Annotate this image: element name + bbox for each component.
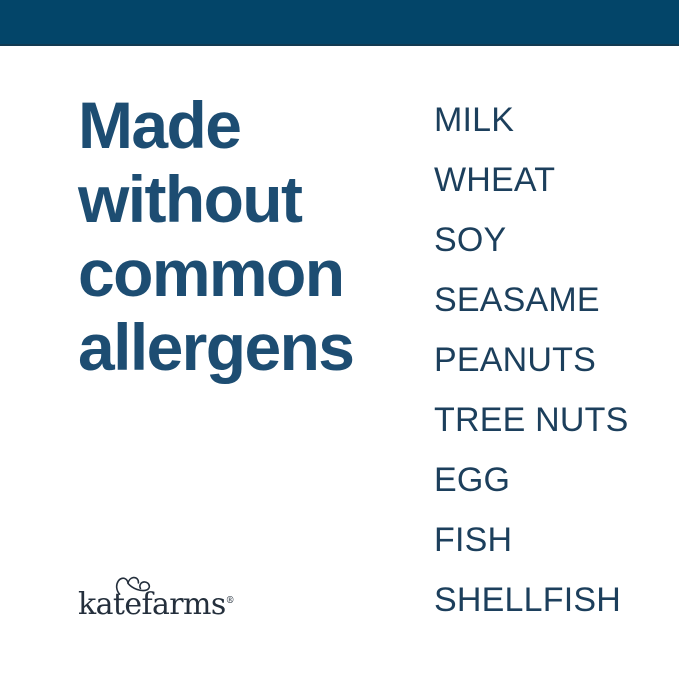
list-item: SHELLFISH	[434, 570, 628, 630]
list-item: EGG	[434, 450, 628, 510]
list-item: WHEAT	[434, 150, 628, 210]
registered-trademark-icon: ®	[226, 596, 235, 606]
headline-line-3: common	[78, 236, 398, 310]
top-banner-bar	[0, 0, 679, 44]
headline-column: Made without common allergens katefarms®	[78, 46, 408, 679]
logo-wordmark-text: katefarms	[78, 587, 226, 622]
list-item: MILK	[434, 90, 628, 150]
allergen-column: MILK WHEAT SOY SEASAME PEANUTS TREE NUTS…	[434, 46, 674, 679]
allergen-list: MILK WHEAT SOY SEASAME PEANUTS TREE NUTS…	[434, 90, 628, 630]
list-item: SEASAME	[434, 270, 628, 330]
list-item: FISH	[434, 510, 628, 570]
brand-logo: katefarms®	[78, 573, 238, 625]
card-content: Made without common allergens katefarms®…	[0, 46, 679, 679]
list-item: PEANUTS	[434, 330, 628, 390]
page-title: Made without common allergens	[78, 88, 398, 384]
list-item: TREE NUTS	[434, 390, 628, 450]
headline-line-4: allergens	[78, 310, 398, 384]
headline-line-2: without	[78, 162, 398, 236]
headline-line-1: Made	[78, 88, 398, 162]
allergen-info-card: Made without common allergens katefarms®…	[0, 0, 679, 679]
logo-wordmark: katefarms®	[78, 587, 235, 622]
list-item: SOY	[434, 210, 628, 270]
